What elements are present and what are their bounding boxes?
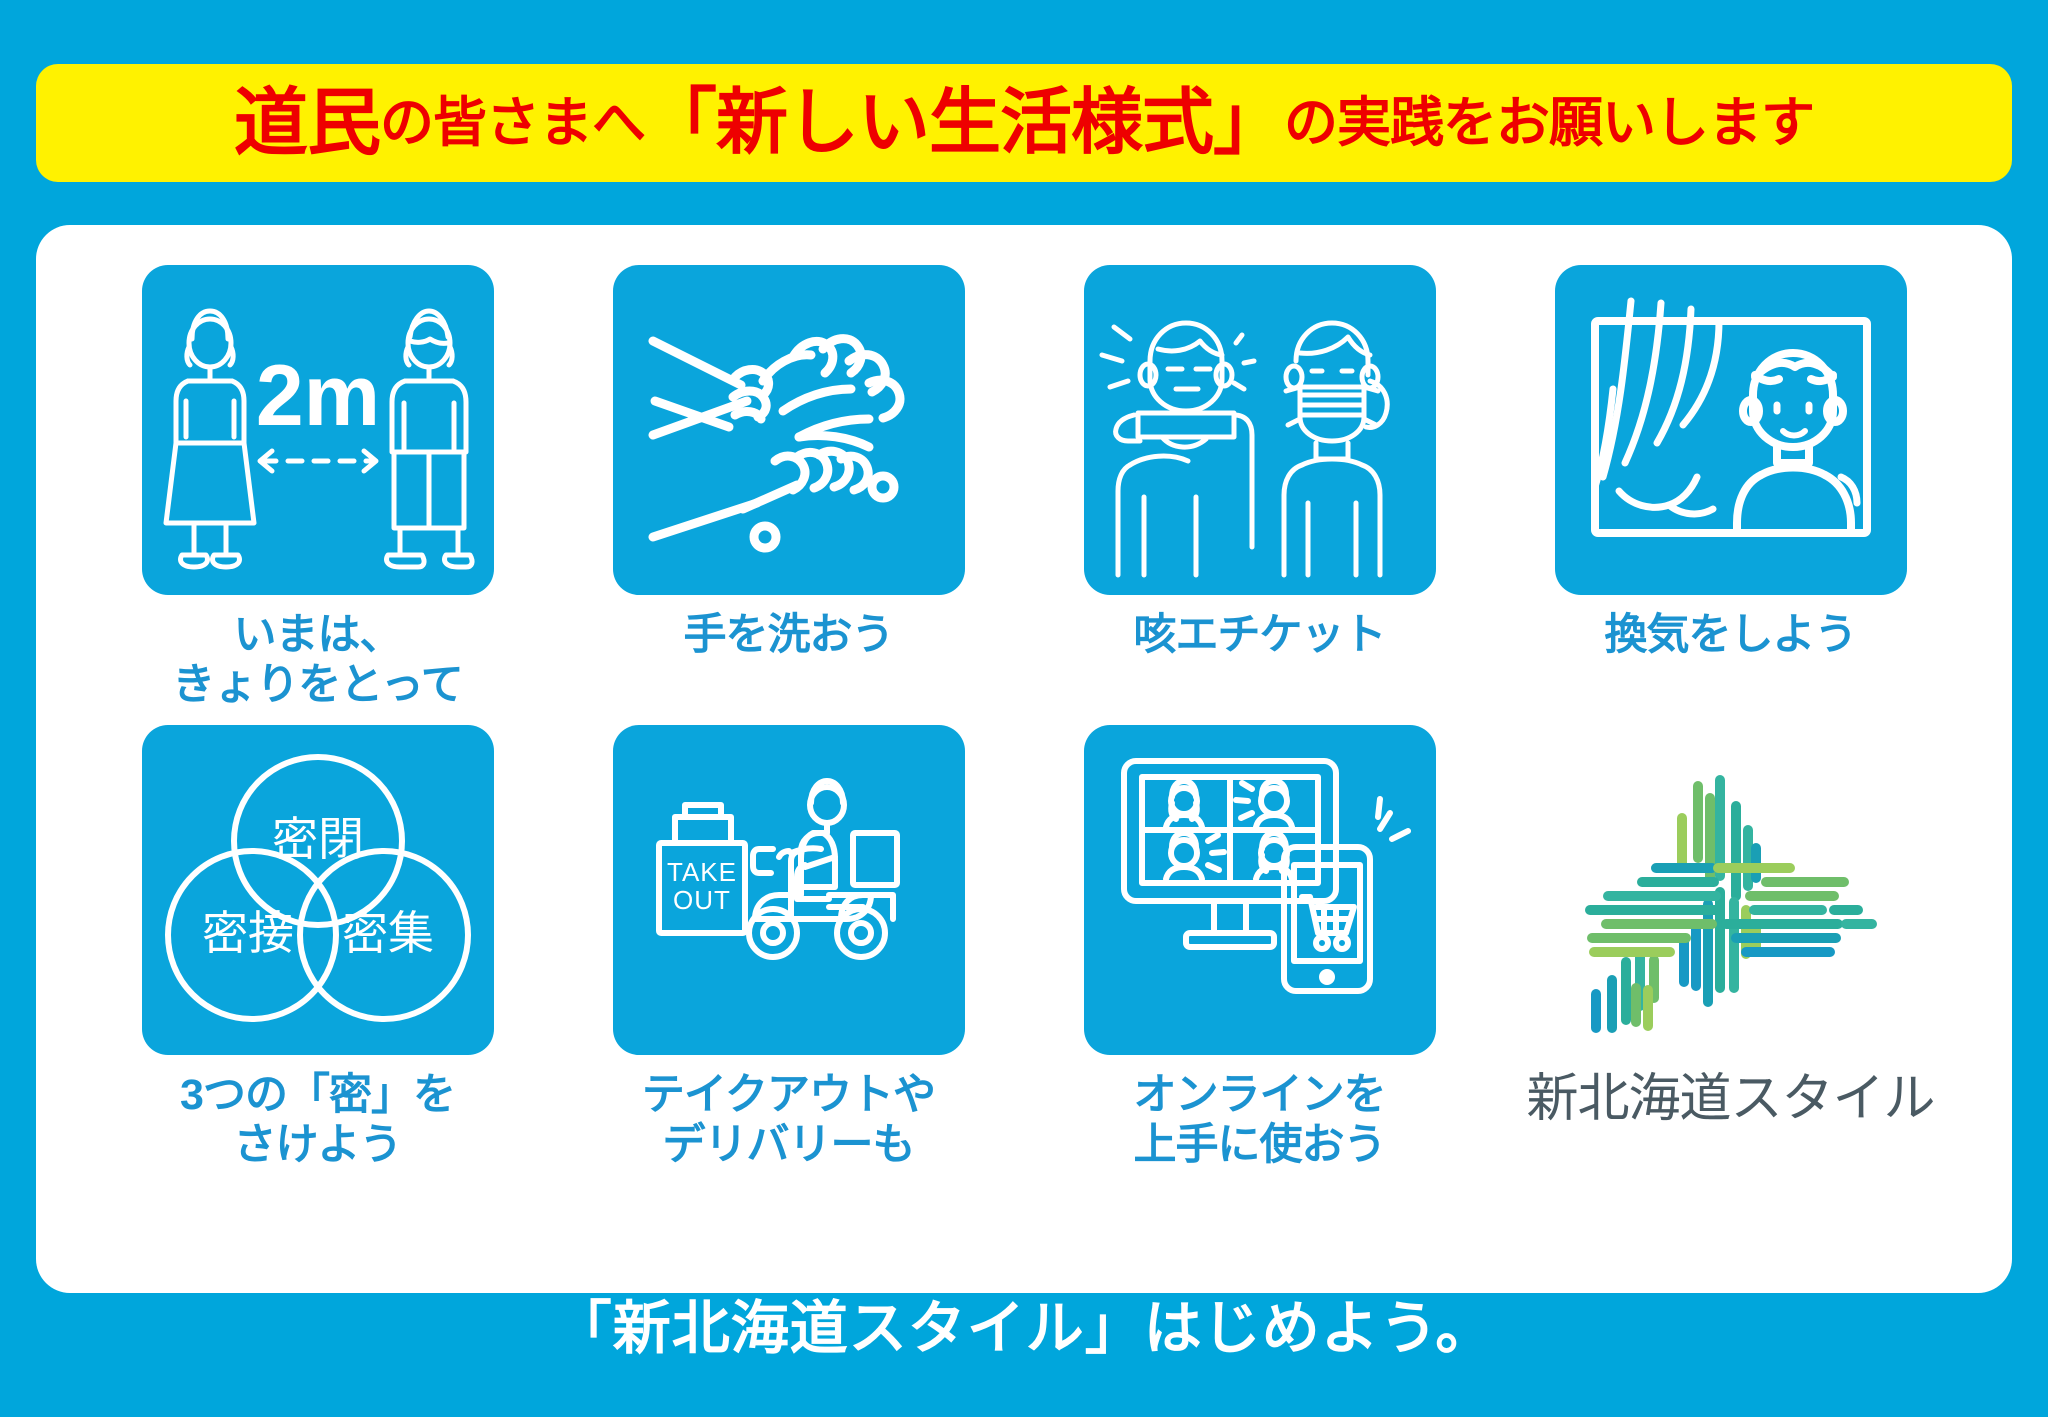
- social-distance-icon: 2m: [142, 265, 494, 595]
- logo-mark-icon: [1550, 764, 1910, 1054]
- header-lead-text: 道民: [234, 86, 380, 160]
- cough-etiquette-icon: [1084, 265, 1436, 595]
- venn-label-left: 密接: [202, 907, 294, 959]
- takeout-bag-line2: OUT: [673, 885, 731, 915]
- header-quote-close: 」: [1213, 87, 1284, 159]
- three-cs-venn-icon: 密閉 密接 密集: [142, 725, 494, 1055]
- guideline-item-three-cs: 密閉 密接 密集 3つの「密」を さけよう: [96, 725, 539, 1171]
- guideline-caption: いまは、 きょりをとって: [172, 611, 463, 711]
- guidelines-grid: 2m いまは、 きょりをとって: [96, 265, 1952, 1171]
- guideline-item-ventilation: 換気をしよう: [1509, 265, 1952, 711]
- wash-hands-icon: [613, 265, 965, 595]
- guideline-caption: 手を洗おう: [684, 611, 894, 661]
- shin-hokkaido-style-logo: 新北海道スタイル: [1509, 725, 1952, 1171]
- svg-text:2m: 2m: [255, 348, 379, 444]
- online-usage-icon: [1084, 725, 1436, 1055]
- ventilation-icon: [1555, 265, 1907, 595]
- guideline-caption: オンラインを 上手に使おう: [1134, 1071, 1386, 1171]
- guideline-item-online: オンラインを 上手に使おう: [1038, 725, 1481, 1171]
- guideline-item-takeout-delivery: TAKE OUT: [567, 725, 1010, 1171]
- content-card: 2m いまは、 きょりをとって: [36, 225, 2012, 1293]
- guideline-caption: 咳エチケット: [1134, 611, 1386, 661]
- guideline-item-social-distance: 2m いまは、 きょりをとって: [96, 265, 539, 711]
- guideline-item-wash-hands: 手を洗おう: [567, 265, 1010, 711]
- guideline-caption: 換気をしよう: [1605, 611, 1857, 661]
- takeout-delivery-icon: TAKE OUT: [613, 725, 965, 1055]
- header-tail-text: の実践をお願いします: [1284, 96, 1814, 150]
- header-emphasis-text: 新しい生活様式: [716, 87, 1213, 159]
- header-part2-text: の皆さまへ: [380, 96, 645, 150]
- header-banner: 道民 の皆さまへ 「 新しい生活様式 」 の実践をお願いします: [36, 64, 2012, 182]
- venn-label-right: 密集: [342, 907, 434, 959]
- venn-label-top: 密閉: [272, 813, 364, 865]
- logo-text: 新北海道スタイル: [1526, 1056, 1934, 1131]
- takeout-bag-line1: TAKE: [667, 857, 737, 887]
- header-quote-open: 「: [645, 87, 716, 159]
- guideline-caption: 3つの「密」を さけよう: [180, 1071, 455, 1171]
- footer-slogan: 「新北海道スタイル」はじめよう。: [0, 1300, 2048, 1358]
- guideline-caption: テイクアウトや デリバリーも: [642, 1071, 935, 1171]
- guideline-item-cough-etiquette: 咳エチケット: [1038, 265, 1481, 711]
